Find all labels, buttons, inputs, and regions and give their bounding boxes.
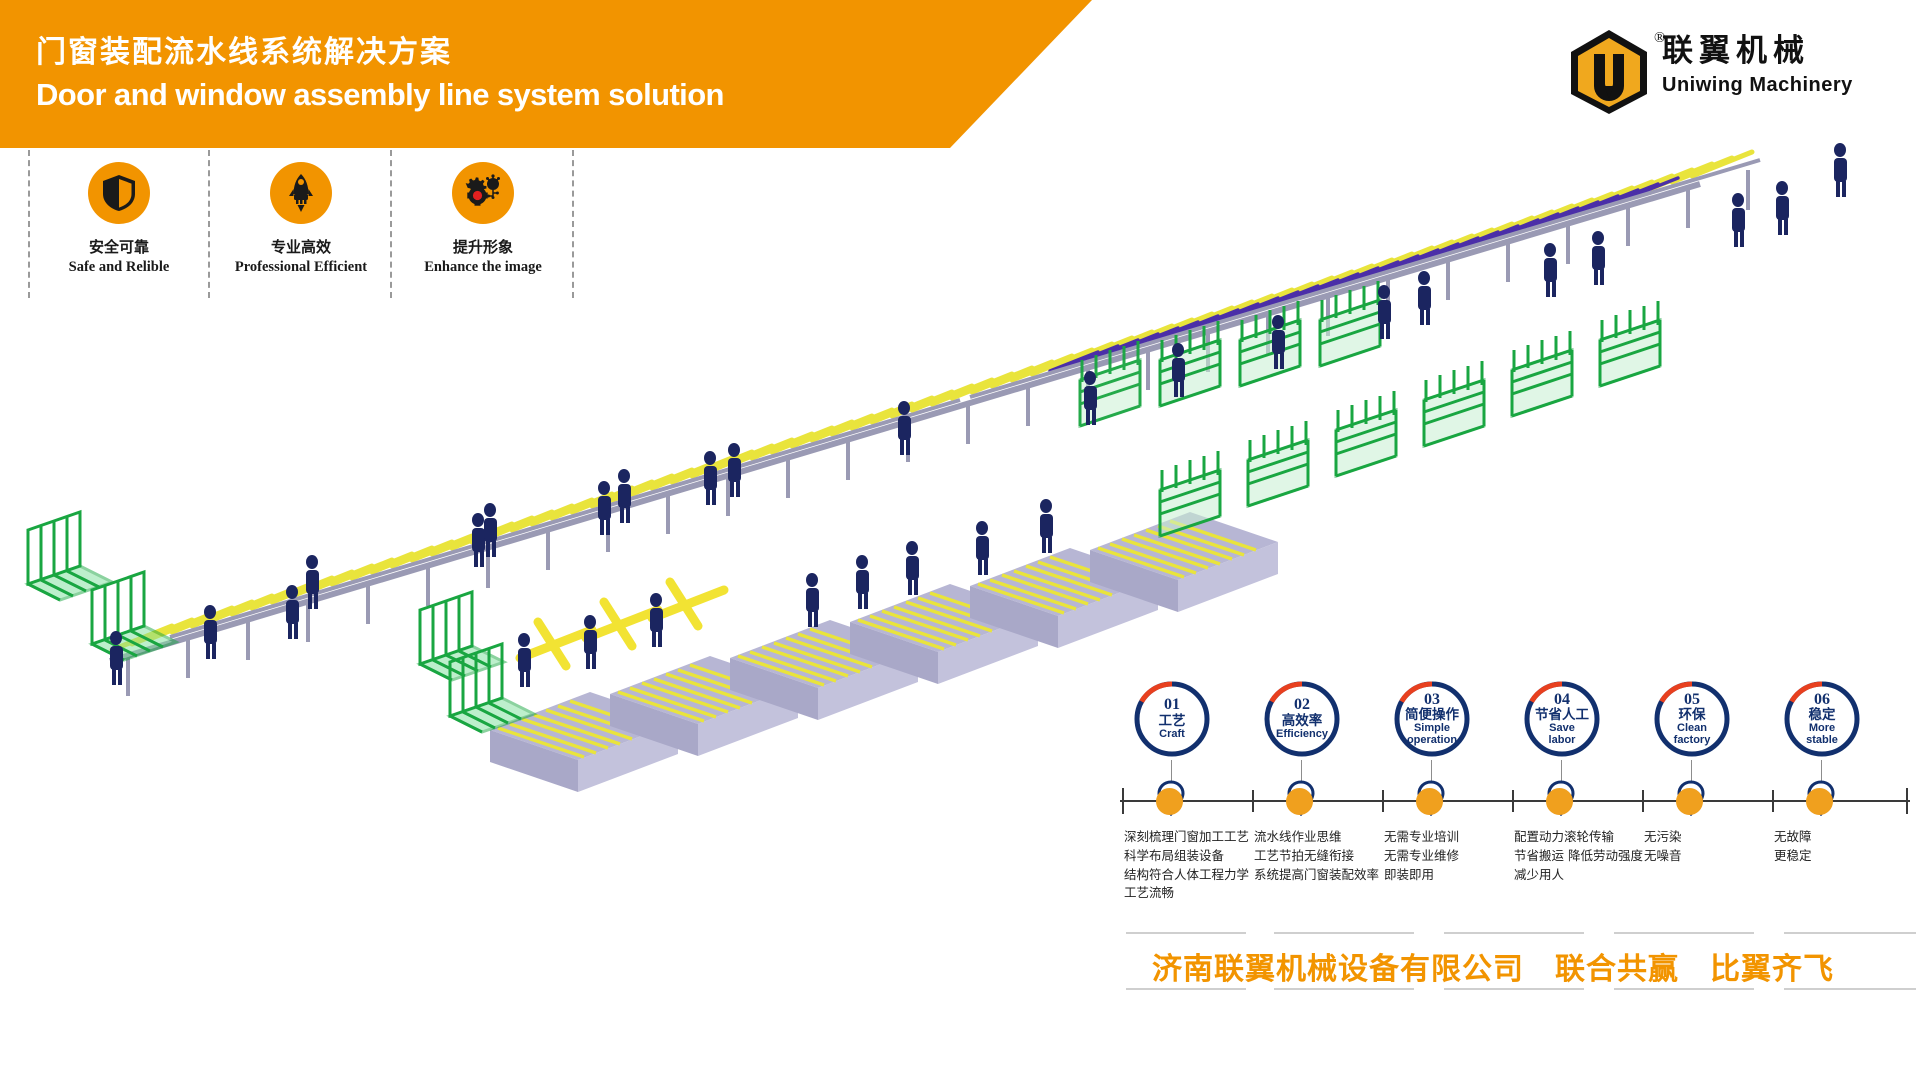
timeline-tick: [1772, 790, 1774, 812]
brand-name-en: Uniwing Machinery: [1662, 74, 1853, 97]
rule-seg: [1444, 988, 1584, 990]
node-number: 03: [1424, 692, 1440, 709]
rule-seg: [1784, 988, 1916, 990]
timeline-marker-dot: [1156, 788, 1183, 815]
node-number: 06: [1814, 692, 1830, 709]
timeline-node-03[interactable]: 03 简便操作 Simple operation 无需专业培训 无需专业维修 即…: [1376, 680, 1488, 758]
page-title-cn: 门窗装配流水线系统解决方案: [36, 36, 452, 69]
footer-rule-top: [1126, 932, 1916, 936]
rule-seg: [1614, 932, 1754, 934]
rule-seg: [1784, 932, 1916, 934]
timeline-endcap-right: [1906, 788, 1908, 814]
timeline-badge: 02 高效率 Efficiency: [1263, 680, 1341, 758]
node-label-cn: 稳定: [1809, 708, 1836, 723]
timeline-tick: [1382, 790, 1384, 812]
node-label-en: Clean factory: [1674, 723, 1711, 746]
node-number: 01: [1164, 697, 1180, 714]
node-label-en: Simple operation: [1407, 723, 1457, 746]
timeline-badge: 01 工艺 Craft: [1133, 680, 1211, 758]
node-label-cn: 工艺: [1159, 714, 1186, 729]
brand-logo: ® 联翼机械 Uniwing Machinery: [1568, 28, 1853, 116]
node-label-cn: 节省人工: [1535, 708, 1589, 723]
timeline-marker-dot: [1806, 788, 1833, 815]
rule-seg: [1274, 988, 1414, 990]
rule-seg: [1444, 932, 1584, 934]
advantages-timeline: 01 工艺 Craft 深刻梳理门窗加工工艺 科学布局组装设备 结构符合人体工程…: [1120, 680, 1910, 920]
timeline-tick: [1252, 790, 1254, 812]
connector-line: [1301, 760, 1302, 782]
node-label-en: Save labor: [1549, 723, 1576, 746]
timeline-badge: 04 节省人工 Save labor: [1523, 680, 1601, 758]
rule-seg: [1614, 988, 1754, 990]
timeline-badge: 06 稳定 More stable: [1783, 680, 1861, 758]
node-label-en: Craft: [1159, 729, 1185, 741]
rule-seg: [1274, 932, 1414, 934]
poster-root: 门窗装配流水线系统解决方案 Door and window assembly l…: [0, 0, 1920, 1080]
uniwing-hexagon-u-logo-icon: ®: [1568, 28, 1650, 116]
node-number: 04: [1554, 692, 1570, 709]
green-transport-carts: [1080, 281, 1660, 536]
timeline-endcap-left: [1122, 788, 1124, 814]
timeline-marker-dot: [1286, 788, 1313, 815]
timeline-marker-dot: [1676, 788, 1703, 815]
timeline-node-05[interactable]: 05 环保 Clean factory 无污染 无噪音: [1636, 680, 1748, 758]
timeline-badge: 03 简便操作 Simple operation: [1393, 680, 1471, 758]
rule-seg: [1126, 988, 1246, 990]
rule-seg: [1126, 932, 1246, 934]
connector-line: [1171, 760, 1172, 782]
timeline-marker-dot: [1546, 788, 1573, 815]
brand-name-cn: 联翼机械: [1662, 34, 1853, 70]
timeline-node-06[interactable]: 06 稳定 More stable 无故障 更稳定: [1766, 680, 1878, 758]
node-label-cn: 简便操作: [1405, 708, 1459, 723]
timeline-badge: 05 环保 Clean factory: [1653, 680, 1731, 758]
timeline-tick: [1512, 790, 1514, 812]
node-number: 05: [1684, 692, 1700, 709]
footer-rule-bottom: [1126, 988, 1916, 992]
node-label-en: More stable: [1806, 723, 1838, 746]
node-label-en: Efficiency: [1276, 729, 1328, 741]
connector-line: [1431, 760, 1432, 782]
timeline-axis: [1120, 800, 1910, 802]
timeline-tick: [1642, 790, 1644, 812]
timeline-node-04[interactable]: 04 节省人工 Save labor 配置动力滚轮传输 节省搬运 降低劳动强度 …: [1506, 680, 1618, 758]
timeline-node-02[interactable]: 02 高效率 Efficiency 流水线作业思维 工艺节拍无缝衔接 系统提高门…: [1246, 680, 1358, 758]
page-title-en: Door and window assembly line system sol…: [36, 78, 724, 112]
brand-name-block: 联翼机械 Uniwing Machinery: [1662, 34, 1853, 97]
node-number: 02: [1294, 697, 1310, 714]
node-label-cn: 环保: [1679, 708, 1706, 723]
registered-trademark-icon: ®: [1654, 30, 1665, 47]
yellow-window-frame-parts: [520, 582, 724, 666]
connector-line: [1821, 760, 1822, 782]
node-description: 无故障 更稳定: [1774, 828, 1920, 866]
node-label-cn: 高效率: [1282, 714, 1323, 729]
connector-line: [1561, 760, 1562, 782]
connector-line: [1691, 760, 1692, 782]
timeline-node-01[interactable]: 01 工艺 Craft 深刻梳理门窗加工工艺 科学布局组装设备 结构符合人体工程…: [1116, 680, 1228, 758]
timeline-marker-dot: [1416, 788, 1443, 815]
company-footer-text: 济南联翼机械设备有限公司 联合共赢 比翼齐飞: [1152, 944, 1834, 988]
